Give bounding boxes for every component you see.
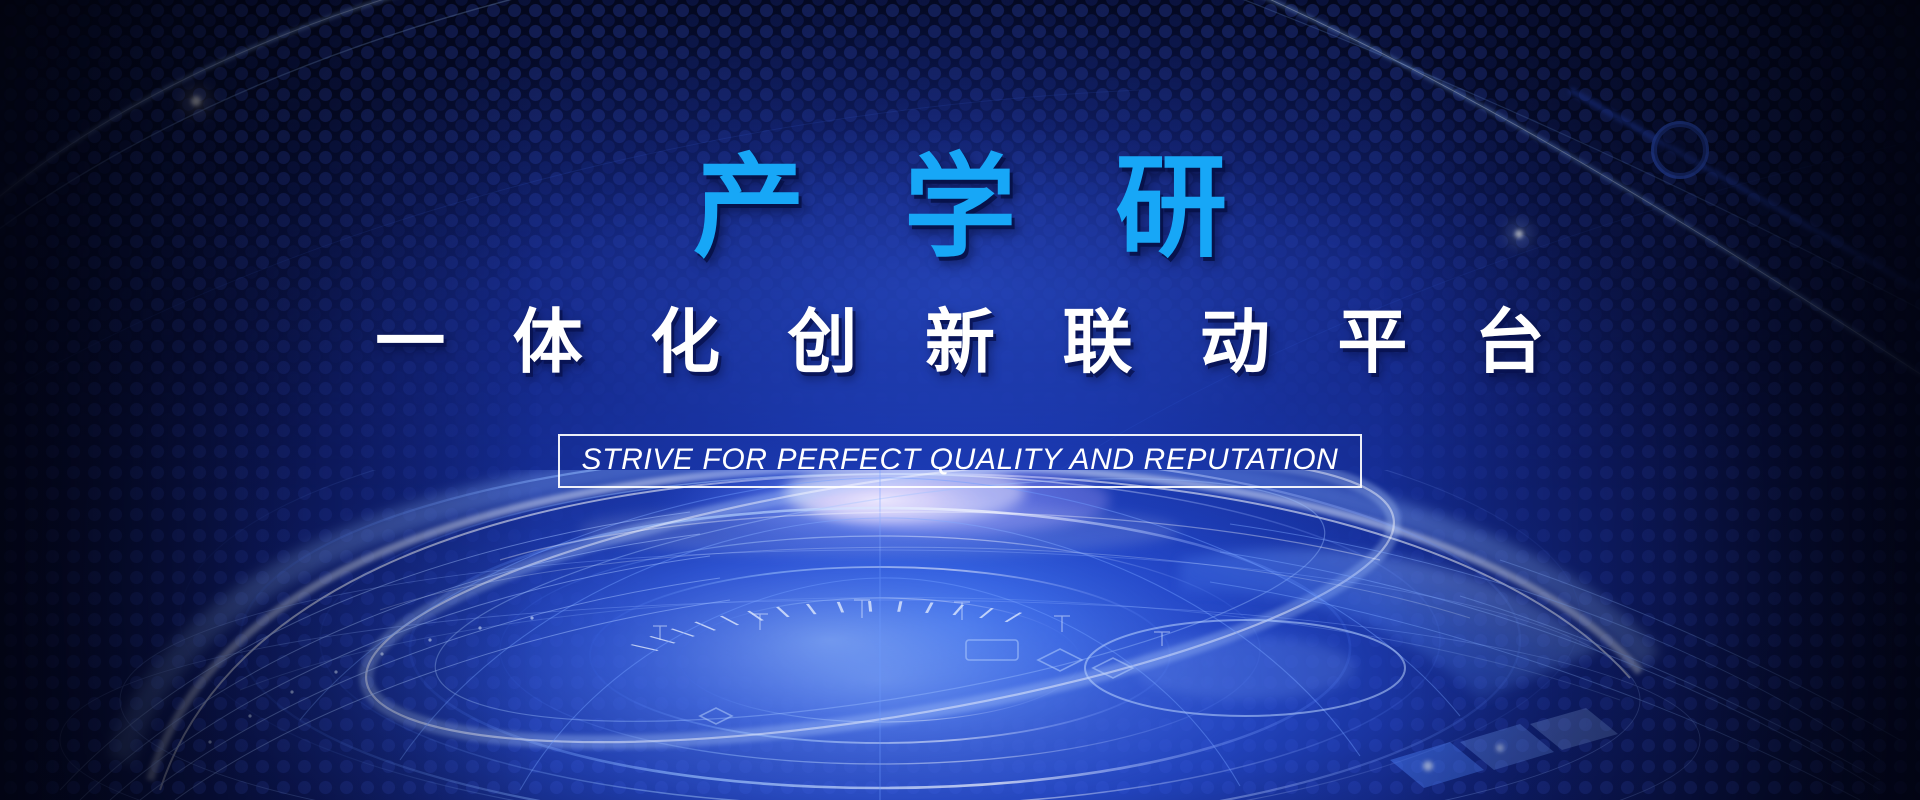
slogan-box: STRIVE FOR PERFECT QUALITY AND REPUTATIO… [558,434,1363,488]
slogan-container: STRIVE FOR PERFECT QUALITY AND REPUTATIO… [0,434,1920,488]
slogan-text: STRIVE FOR PERFECT QUALITY AND REPUTATIO… [582,445,1339,475]
page-title-secondary: 一 体 化 创 新 联 动 平 台 [0,307,1920,377]
page-title-primary: 产 学 研 [0,152,1920,264]
vignette-overlay [0,0,1920,800]
banner-hero: 产 学 研 一 体 化 创 新 联 动 平 台 STRIVE FOR PERFE… [0,0,1920,800]
